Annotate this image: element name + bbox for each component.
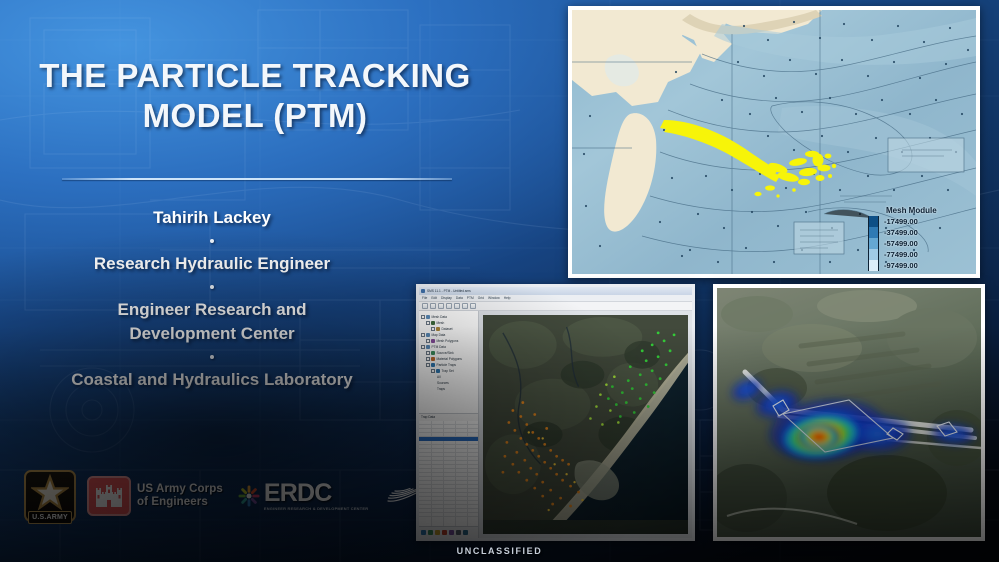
erdc-asterisk-icon bbox=[238, 485, 260, 507]
legend-row-4: -77499.00 bbox=[868, 249, 972, 260]
title-divider bbox=[62, 178, 452, 180]
tree-node-label: Mesh bbox=[437, 321, 445, 325]
folder-icon bbox=[426, 333, 430, 337]
tool-icon-4[interactable] bbox=[442, 530, 447, 535]
plume-heatmap-canvas bbox=[717, 288, 981, 537]
data-grid-title: Trap Data bbox=[419, 414, 478, 421]
menu-item-file[interactable]: File bbox=[422, 296, 427, 300]
source-icon bbox=[431, 351, 435, 355]
erdc-wordmark: ERDC ENGINEER RESEARCH & DEVELOPMENT CEN… bbox=[264, 482, 368, 511]
toolbar-button-run[interactable] bbox=[470, 303, 476, 309]
menu-item-ptm[interactable]: PTM bbox=[467, 296, 474, 300]
menu-item-edit[interactable]: Edit bbox=[431, 296, 437, 300]
legend-value-5: -97499.00 bbox=[884, 261, 918, 270]
left-panel: Mesh Data Mesh Dataset bbox=[419, 311, 479, 538]
usace-line-2: of Engineers bbox=[137, 496, 223, 509]
tree-checkbox[interactable] bbox=[426, 351, 430, 355]
toolbar-button-print[interactable] bbox=[438, 303, 444, 309]
grid-selected-row[interactable] bbox=[419, 437, 478, 441]
tool-icon-1[interactable] bbox=[421, 530, 426, 535]
usace-logo: US Army Corps of Engineers bbox=[87, 476, 223, 516]
tree-node-label: Map Data bbox=[432, 333, 446, 337]
window-body: Mesh Data Mesh Dataset bbox=[419, 311, 692, 538]
legend-swatch-5 bbox=[868, 260, 879, 271]
satellite-map-view[interactable] bbox=[483, 315, 688, 534]
toolbar-button-save[interactable] bbox=[430, 303, 436, 309]
dataset-icon bbox=[436, 327, 440, 331]
data-grid[interactable] bbox=[419, 421, 478, 526]
tree-checkbox[interactable] bbox=[421, 315, 425, 319]
legend-value-2: -37499.00 bbox=[884, 228, 918, 237]
tree-checkbox[interactable] bbox=[426, 357, 430, 361]
castle-plate bbox=[87, 476, 131, 516]
us-army-logo: U.S.ARMY bbox=[24, 470, 76, 522]
tree-node-label: Traps bbox=[437, 387, 445, 391]
tree-node-label: Source/Sink bbox=[437, 351, 454, 355]
menu-item-grid[interactable]: Grid bbox=[478, 296, 484, 300]
legend-row-5: -97499.00 bbox=[868, 260, 972, 271]
map-view-panel[interactable] bbox=[479, 311, 692, 538]
satellite-imagery bbox=[483, 315, 688, 520]
tree-checkbox[interactable] bbox=[426, 339, 430, 343]
usace-line-1: US Army Corps bbox=[137, 483, 223, 496]
tree-checkbox[interactable] bbox=[431, 369, 435, 373]
ptm-software-figure: SMS 11.1 - PTM - Untitled.sms File Edit … bbox=[416, 284, 695, 541]
tree-node-label: Particle Traps bbox=[437, 363, 457, 367]
material-icon bbox=[431, 357, 435, 361]
toolbar-button-select[interactable] bbox=[462, 303, 468, 309]
tool-icon-3[interactable] bbox=[435, 530, 440, 535]
dot-separator-1 bbox=[12, 230, 412, 252]
nautical-chart-figure: Mesh Module -17499.00 -37499.00 -57499.0… bbox=[568, 6, 980, 278]
project-explorer-tree[interactable]: Mesh Data Mesh Dataset bbox=[419, 311, 478, 414]
page-title-line-2: MODEL (PTM) bbox=[20, 96, 490, 136]
toolbar-button-open[interactable] bbox=[422, 303, 428, 309]
plume-heatmap-figure bbox=[713, 284, 985, 541]
organization-line-2: Development Center bbox=[12, 322, 412, 346]
ptm-software-canvas: SMS 11.1 - PTM - Untitled.sms File Edit … bbox=[419, 287, 692, 538]
app-icon bbox=[421, 289, 425, 293]
legend-swatch-3 bbox=[868, 238, 879, 249]
laboratory-name: Coastal and Hydraulics Laboratory bbox=[12, 368, 412, 392]
plume-heatmap-overlay bbox=[717, 288, 981, 537]
usace-wordmark: US Army Corps of Engineers bbox=[137, 483, 223, 509]
tree-checkbox[interactable] bbox=[426, 321, 430, 325]
presenter-role: Research Hydraulic Engineer bbox=[12, 252, 412, 276]
tree-node-label: PTM Data bbox=[432, 345, 446, 349]
legend-row-1: -17499.00 bbox=[868, 216, 972, 227]
tree-node-label: Trap Set bbox=[442, 369, 454, 373]
slide-title-block: THE PARTICLE TRACKING MODEL (PTM) bbox=[20, 56, 490, 136]
presenter-info-block: Tahirih Lackey Research Hydraulic Engine… bbox=[12, 206, 412, 392]
trap-set-icon bbox=[436, 369, 440, 373]
tree-node-label: Mesh Data bbox=[432, 315, 447, 319]
toolbar-button-zoom[interactable] bbox=[446, 303, 452, 309]
legend-value-1: -17499.00 bbox=[884, 217, 918, 226]
window-title: SMS 11.1 - PTM - Untitled.sms bbox=[427, 289, 471, 293]
legend-swatch-2 bbox=[868, 227, 879, 238]
tool-icon-6[interactable] bbox=[456, 530, 461, 535]
menu-bar[interactable]: File Edit Display Data PTM Grid Window H… bbox=[419, 295, 692, 302]
tree-node-traps[interactable]: Traps bbox=[421, 386, 476, 392]
legend-swatch-4 bbox=[868, 249, 879, 260]
tree-checkbox[interactable] bbox=[431, 327, 435, 331]
chart-legend-title: Mesh Module bbox=[886, 206, 972, 215]
menu-item-window[interactable]: Window bbox=[488, 296, 500, 300]
menu-item-display[interactable]: Display bbox=[441, 296, 452, 300]
folder-icon bbox=[426, 345, 430, 349]
tool-icon-7[interactable] bbox=[463, 530, 468, 535]
toolbar[interactable] bbox=[419, 302, 692, 311]
tree-checkbox[interactable] bbox=[421, 345, 425, 349]
ptm-application-window: SMS 11.1 - PTM - Untitled.sms File Edit … bbox=[419, 287, 692, 538]
castle-icon bbox=[94, 483, 124, 509]
folder-icon bbox=[426, 315, 430, 319]
chart-legend: Mesh Module -17499.00 -37499.00 -57499.0… bbox=[868, 206, 972, 271]
organization-line-1: Engineer Research and bbox=[12, 298, 412, 322]
legend-value-3: -57499.00 bbox=[884, 239, 918, 248]
tree-node-label: Material Polygons bbox=[437, 357, 462, 361]
page-title-line-1: THE PARTICLE TRACKING bbox=[20, 56, 490, 96]
tree-node-label: Mesh Polygons bbox=[437, 339, 459, 343]
classification-footer: UNCLASSIFIED bbox=[0, 546, 999, 556]
menu-item-help[interactable]: Help bbox=[504, 296, 511, 300]
tree-checkbox[interactable] bbox=[426, 363, 430, 367]
dot-separator-3 bbox=[12, 346, 412, 368]
erdc-logo: ERDC ENGINEER RESEARCH & DEVELOPMENT CEN… bbox=[238, 482, 368, 511]
legend-row-3: -57499.00 bbox=[868, 238, 972, 249]
grid-row[interactable] bbox=[419, 513, 478, 517]
legend-value-4: -77499.00 bbox=[884, 250, 918, 259]
legend-swatch-1 bbox=[868, 216, 879, 227]
erdc-word: ERDC bbox=[264, 482, 368, 504]
presenter-name: Tahirih Lackey bbox=[12, 206, 412, 230]
presentation-slide: THE PARTICLE TRACKING MODEL (PTM) Tahiri… bbox=[0, 0, 999, 562]
us-army-tag: U.S.ARMY bbox=[28, 511, 72, 524]
mesh-icon bbox=[431, 321, 435, 325]
tree-node-label: Dataset bbox=[442, 327, 453, 331]
nautical-chart-canvas: Mesh Module -17499.00 -37499.00 -57499.0… bbox=[572, 10, 976, 274]
tree-node-label: Sources bbox=[437, 381, 449, 385]
dot-separator-2 bbox=[12, 276, 412, 298]
erdc-subtitle: ENGINEER RESEARCH & DEVELOPMENT CENTER bbox=[264, 506, 368, 511]
menu-item-data[interactable]: Data bbox=[456, 296, 463, 300]
trap-icon bbox=[431, 363, 435, 367]
legend-row-2: -37499.00 bbox=[868, 227, 972, 238]
polygon-icon bbox=[431, 339, 435, 343]
toolbar-button-pan[interactable] bbox=[454, 303, 460, 309]
star-icon bbox=[31, 474, 69, 512]
tree-node-label: All bbox=[437, 375, 441, 379]
tool-icon-2[interactable] bbox=[428, 530, 433, 535]
bottom-tool-strip[interactable] bbox=[419, 526, 478, 538]
tree-checkbox[interactable] bbox=[421, 333, 425, 337]
window-titlebar: SMS 11.1 - PTM - Untitled.sms bbox=[419, 287, 692, 295]
tool-icon-5[interactable] bbox=[449, 530, 454, 535]
